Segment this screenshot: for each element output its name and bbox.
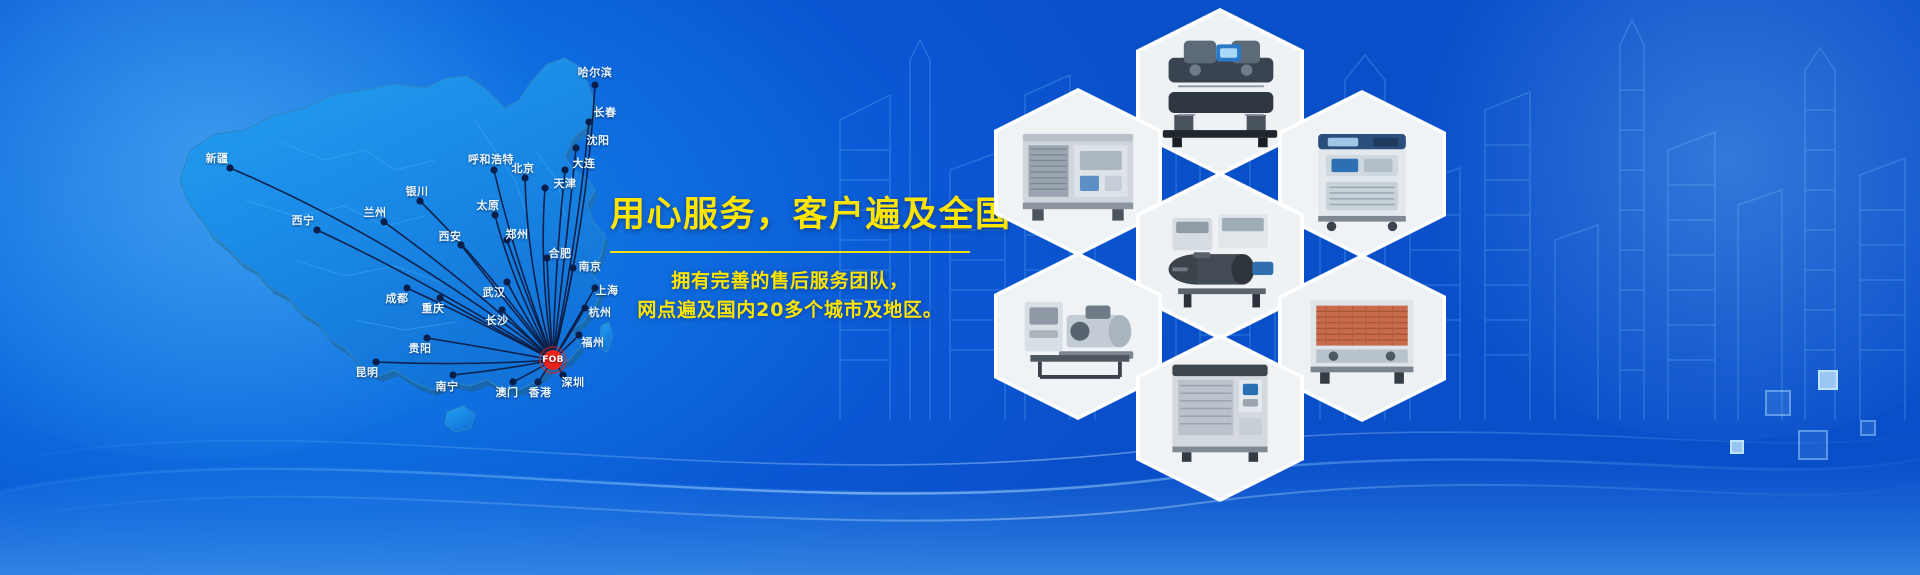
divider-rule <box>610 251 970 253</box>
city-label: 呼和浩特 <box>468 151 514 167</box>
city-label: 南宁 <box>436 378 459 394</box>
city-label: 西安 <box>439 228 462 244</box>
city-label: 昆明 <box>356 364 379 380</box>
water-cooled-screw-chiller-image <box>1140 12 1300 172</box>
hub-marker-label: FOB <box>542 355 564 365</box>
product-hex-cabinet-chiller-unit[interactable] <box>1136 334 1304 502</box>
page-title: 用心服务，客户遍及全国 <box>610 196 970 235</box>
china-service-network-map: 哈尔滨长春沈阳大连呼和浩特北京天津新疆银川兰州西宁太原西安郑州合肥南京上海杭州武… <box>95 30 695 450</box>
water-cooled-condenser-unit-image <box>1140 176 1300 336</box>
decor-square <box>1765 390 1791 416</box>
city-label: 太原 <box>477 197 500 213</box>
city-label: 长春 <box>594 104 617 120</box>
city-label: 大连 <box>573 155 596 171</box>
city-label: 兰州 <box>364 204 387 220</box>
decor-square <box>1798 430 1828 460</box>
city-label: 天津 <box>554 175 577 191</box>
city-label: 长沙 <box>486 312 509 328</box>
city-label: 西宁 <box>292 212 315 228</box>
city-label: 深圳 <box>562 374 585 390</box>
product-hexagon-gallery <box>960 0 1500 470</box>
subtitle-line-1: 拥有完善的售后服务团队， <box>610 267 970 296</box>
city-label: 杭州 <box>589 304 612 320</box>
map-graphic <box>95 30 695 450</box>
city-label: 合肥 <box>549 245 572 261</box>
city-label: 哈尔滨 <box>578 64 613 80</box>
decor-square <box>1860 420 1876 436</box>
marketing-copy-block: 用心服务，客户遍及全国 拥有完善的售后服务团队， 网点遍及国内20多个城市及地区… <box>610 196 970 325</box>
decor-square <box>1730 440 1744 454</box>
industrial-air-chiller-image <box>1282 94 1442 254</box>
city-label: 成都 <box>386 290 409 306</box>
city-label: 福州 <box>582 334 605 350</box>
decor-square <box>1818 370 1838 390</box>
subtitle-line-2: 网点遍及国内20多个城市及地区。 <box>610 296 970 325</box>
city-label: 北京 <box>512 160 535 176</box>
air-cooled-condenser-coil-image <box>1282 258 1442 418</box>
city-label: 银川 <box>406 183 429 199</box>
city-label: 澳门 <box>496 384 519 400</box>
city-label: 南京 <box>579 258 602 274</box>
city-label: 武汉 <box>483 284 506 300</box>
cabinet-chiller-unit-image <box>1140 338 1300 498</box>
city-label: 香港 <box>529 384 552 400</box>
city-label: 重庆 <box>422 300 445 316</box>
screw-compressor-unit-image <box>998 256 1158 416</box>
city-label: 郑州 <box>506 226 529 242</box>
air-cooled-box-chiller-image <box>998 92 1158 252</box>
city-label: 沈阳 <box>587 132 610 148</box>
city-label: 新疆 <box>206 150 229 166</box>
service-network-banner: 哈尔滨长春沈阳大连呼和浩特北京天津新疆银川兰州西宁太原西安郑州合肥南京上海杭州武… <box>0 0 1920 575</box>
city-label: 贵阳 <box>409 340 432 356</box>
